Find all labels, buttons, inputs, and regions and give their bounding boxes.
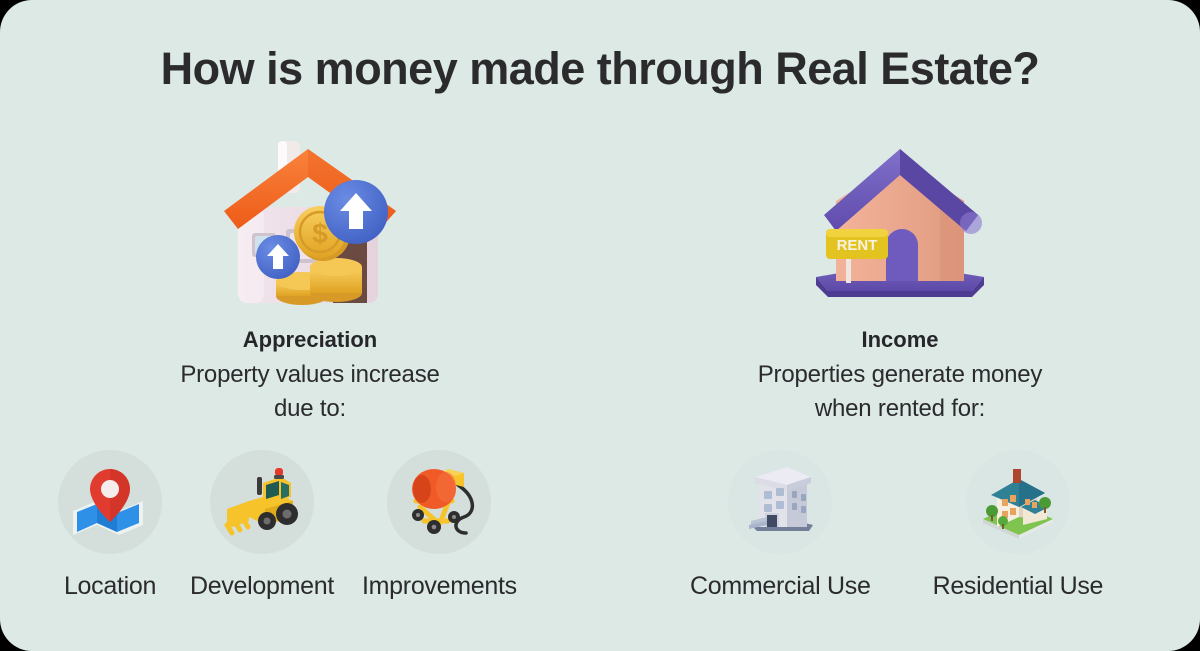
residential-icon-circle [966, 450, 1070, 554]
item-location[interactable]: Location [58, 450, 162, 601]
subtitle-income-line2: when rented for: [640, 392, 1160, 426]
location-icon-circle [58, 450, 162, 554]
suburban-house-icon [975, 459, 1061, 545]
infographic-canvas: How is money made through Real Estate? [0, 0, 1200, 651]
items-row-income: Commercial Use [690, 450, 1150, 601]
hero-icon-income-wrap: RENT [640, 130, 1160, 315]
rent-sign-text: RENT [837, 237, 878, 254]
item-commercial-use[interactable]: Commercial Use [690, 450, 871, 601]
item-location-label: Location [64, 572, 156, 601]
office-building-icon [737, 459, 823, 545]
map-pin-location-icon [67, 459, 153, 545]
item-commercial-use-label: Commercial Use [690, 572, 871, 601]
page-title: How is money made through Real Estate? [0, 44, 1200, 94]
subtitle-appreciation-line2: due to: [60, 392, 560, 426]
house-with-rising-value-icon: $ [210, 133, 410, 313]
item-residential-use[interactable]: Residential Use [933, 450, 1104, 601]
house-for-rent-icon: RENT [800, 135, 1000, 310]
commercial-icon-circle [728, 450, 832, 554]
development-icon-circle [210, 450, 314, 554]
cement-mixer-icon [396, 459, 482, 545]
subtitle-income-line1: Properties generate money [640, 358, 1160, 392]
subtitle-appreciation: Property values increase due to: [60, 358, 560, 426]
column-income: RENT Income Properties generate money wh… [640, 130, 1160, 426]
dollar-symbol: $ [312, 218, 328, 249]
heading-income: Income [640, 327, 1160, 353]
improvements-icon-circle [387, 450, 491, 554]
item-development[interactable]: Development [190, 450, 334, 601]
item-development-label: Development [190, 572, 334, 601]
heading-appreciation: Appreciation [60, 327, 560, 353]
item-improvements-label: Improvements [362, 572, 517, 601]
items-row-appreciation: Location [58, 450, 568, 601]
item-residential-use-label: Residential Use [933, 572, 1104, 601]
hero-icon-appreciation-wrap: $ [60, 130, 560, 315]
bulldozer-icon [219, 459, 305, 545]
subtitle-appreciation-line1: Property values increase [60, 358, 560, 392]
item-improvements[interactable]: Improvements [362, 450, 517, 601]
subtitle-income: Properties generate money when rented fo… [640, 358, 1160, 426]
column-appreciation: $ Appreciation Property values increase … [60, 130, 560, 426]
